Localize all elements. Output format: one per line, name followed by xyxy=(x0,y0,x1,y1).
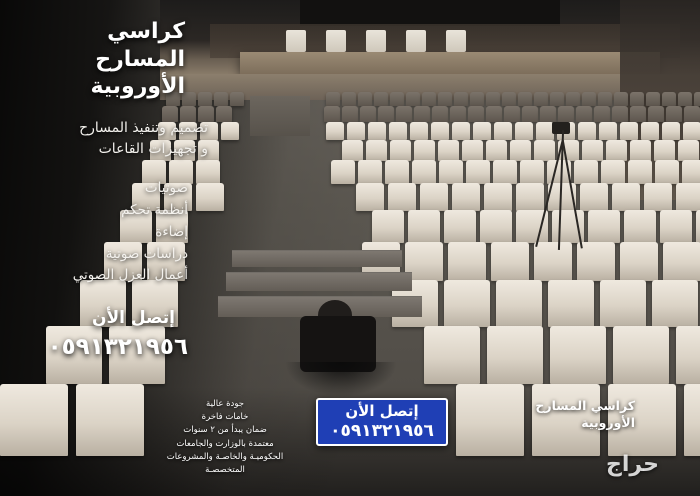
theater-seat xyxy=(491,242,529,281)
brand-line-2: الأوروبية xyxy=(455,415,635,432)
theater-seat xyxy=(439,160,463,184)
theater-seat xyxy=(496,280,542,327)
theater-seat xyxy=(614,92,628,106)
theater-seat xyxy=(444,210,476,243)
theater-seat xyxy=(372,210,404,243)
theater-seat xyxy=(550,92,564,106)
headline-line-1: كراسي المسارح xyxy=(13,18,185,73)
theater-seat xyxy=(548,280,594,327)
theater-seat xyxy=(432,106,448,122)
theater-seat xyxy=(684,106,700,122)
theater-seat xyxy=(326,92,340,106)
theater-seat xyxy=(198,92,212,106)
theater-seat xyxy=(414,140,435,161)
theater-seat xyxy=(598,92,612,106)
theater-seat xyxy=(601,160,625,184)
theater-seat xyxy=(540,106,556,122)
theater-seat xyxy=(612,106,628,122)
service-item: أعمال العزل الصوتي xyxy=(8,265,188,287)
theater-seat xyxy=(470,92,484,106)
theater-seat xyxy=(676,326,700,384)
service-item: أنظمة تحكم xyxy=(8,200,188,222)
brand-line-1: كراسي المسارح xyxy=(455,398,635,415)
theater-seat xyxy=(450,106,466,122)
service-item: إضاءة xyxy=(8,222,188,244)
theater-seat xyxy=(196,160,220,184)
stage-chair xyxy=(446,30,466,52)
theater-seat xyxy=(388,183,416,211)
theater-seat xyxy=(0,384,68,456)
theater-seat xyxy=(452,122,470,140)
theater-seat xyxy=(390,92,404,106)
stage-table xyxy=(240,52,660,74)
theater-seat xyxy=(534,242,572,281)
theater-seat xyxy=(696,210,700,243)
theater-seat xyxy=(368,122,386,140)
theater-seat xyxy=(221,122,239,140)
theater-seat xyxy=(594,106,610,122)
theater-seat xyxy=(694,92,700,106)
stage-chair xyxy=(366,30,386,52)
theater-seat xyxy=(630,140,651,161)
theater-seat xyxy=(414,106,430,122)
theater-seat xyxy=(613,326,669,384)
theater-seat xyxy=(420,183,448,211)
aisle-step xyxy=(226,272,412,291)
theater-seat xyxy=(558,106,574,122)
theater-seat xyxy=(486,140,507,161)
theater-seat xyxy=(396,106,412,122)
theater-seat xyxy=(518,92,532,106)
theater-seat xyxy=(652,280,698,327)
theater-seat xyxy=(444,280,490,327)
theater-seat xyxy=(534,140,555,161)
stage-chair xyxy=(406,30,426,52)
stage-screen xyxy=(300,0,560,26)
theater-seat xyxy=(342,140,363,161)
theater-seat xyxy=(516,183,544,211)
theater-seat xyxy=(214,92,228,106)
phone-number: ٠٥٩١٣٢١٩٥٦ xyxy=(23,334,188,360)
subheadline-line-2: و تجهيزات القاعات xyxy=(8,139,208,160)
theater-seat xyxy=(676,183,700,211)
theater-seat xyxy=(410,122,428,140)
aisle-step xyxy=(232,250,402,267)
theater-seat xyxy=(324,106,340,122)
theater-seat xyxy=(342,92,356,106)
theater-seat xyxy=(347,122,365,140)
theater-seat xyxy=(412,160,436,184)
theater-seat xyxy=(641,122,659,140)
fineprint-line: خامات فاخرة xyxy=(150,411,300,424)
theater-seat xyxy=(630,92,644,106)
theater-seat xyxy=(646,92,660,106)
theater-seat xyxy=(678,92,692,106)
watermark: حراج xyxy=(606,452,659,477)
theater-seat xyxy=(520,160,544,184)
theater-seat xyxy=(452,183,480,211)
theater-seat xyxy=(406,92,420,106)
theater-seat xyxy=(628,160,652,184)
theater-seat xyxy=(196,183,224,211)
theater-seat xyxy=(630,106,646,122)
theater-seat xyxy=(494,122,512,140)
service-item: دراسات صوتية xyxy=(8,244,188,266)
theater-seat xyxy=(484,183,512,211)
subheadline: تصميم وتنفيذ المسارح و تجهيزات القاعات xyxy=(8,118,208,160)
contact-badge-phone: ٠٥٩١٣٢١٩٥٦ xyxy=(324,421,440,441)
theater-seat xyxy=(662,92,676,106)
theater-seat xyxy=(515,122,533,140)
theater-seat xyxy=(599,122,617,140)
theater-seat xyxy=(648,106,664,122)
theater-seat xyxy=(326,122,344,140)
theater-seat xyxy=(566,92,580,106)
theater-seat xyxy=(578,122,596,140)
fineprint-line: معتمدة بالوزارت والجامعات xyxy=(150,438,300,451)
theater-seat xyxy=(522,106,538,122)
theater-seat xyxy=(663,242,700,281)
theater-seat xyxy=(576,106,592,122)
subheadline-line-1: تصميم وتنفيذ المسارح xyxy=(8,118,208,139)
theater-seat xyxy=(487,326,543,384)
fineprint-line: ضمان يبدأ من ٢ سنوات xyxy=(150,424,300,437)
theater-seat xyxy=(550,326,606,384)
stage-chair xyxy=(326,30,346,52)
theater-seat xyxy=(624,210,656,243)
theater-seat xyxy=(424,326,480,384)
theater-seat xyxy=(454,92,468,106)
contact-badge-title: إتصل الأن xyxy=(326,402,438,420)
theater-seat xyxy=(534,92,548,106)
center-aisle xyxy=(250,96,310,136)
theater-seat xyxy=(684,384,700,456)
theater-seat xyxy=(588,210,620,243)
theater-seat xyxy=(438,140,459,161)
theater-seat xyxy=(462,140,483,161)
theater-seat xyxy=(580,183,608,211)
theater-seat xyxy=(493,160,517,184)
theater-seat xyxy=(389,122,407,140)
theater-seat xyxy=(486,106,502,122)
theater-seat xyxy=(678,140,699,161)
services-list: صوتيات أنظمة تحكم إضاءة دراسات صوتية أعم… xyxy=(8,178,188,287)
fineprint-line: جودة عالية xyxy=(150,398,300,411)
call-to-action-title: إتصل الأن xyxy=(25,308,175,328)
theater-seat xyxy=(666,106,682,122)
theater-seat xyxy=(230,92,244,106)
theater-seat xyxy=(422,92,436,106)
theater-seat xyxy=(390,140,411,161)
brand-name: كراسي المسارح الأوروبية xyxy=(455,398,635,432)
theater-seat xyxy=(216,106,232,122)
contact-badge[interactable]: إتصل الأن ٠٥٩١٣٢١٩٥٦ xyxy=(316,398,448,446)
service-item: صوتيات xyxy=(8,178,188,200)
headline-line-2: الأوروبية xyxy=(13,73,185,101)
theater-seat xyxy=(356,183,384,211)
theater-seat xyxy=(612,183,640,211)
theater-seat xyxy=(480,210,512,243)
theater-seat xyxy=(76,384,144,456)
theater-seat xyxy=(468,106,484,122)
theater-seat xyxy=(510,140,531,161)
theater-seat xyxy=(366,140,387,161)
theater-seat xyxy=(620,122,638,140)
theater-seat xyxy=(606,140,627,161)
theater-seat xyxy=(358,92,372,106)
advertisement-image: كراسي المسارح الأوروبية تصميم وتنفيذ الم… xyxy=(0,0,700,496)
fineprint-line: الحكوميـة والخاصـة والمشروعات المتخصصـة xyxy=(150,451,300,477)
headline: كراسي المسارح الأوروبية xyxy=(13,18,185,101)
camera-stand-legs xyxy=(286,362,396,396)
theater-seat xyxy=(662,122,680,140)
theater-seat xyxy=(620,242,658,281)
fineprint-block: جودة عالية خامات فاخرة ضمان يبدأ من ٢ سن… xyxy=(150,398,300,477)
theater-seat xyxy=(438,92,452,106)
theater-seat xyxy=(486,92,500,106)
theater-seat xyxy=(466,160,490,184)
theater-seat xyxy=(378,106,394,122)
theater-seat xyxy=(473,122,491,140)
theater-seat xyxy=(582,140,603,161)
theater-seat xyxy=(360,106,376,122)
theater-seat xyxy=(682,160,700,184)
stage-chair xyxy=(286,30,306,52)
theater-seat xyxy=(654,140,675,161)
theater-seat xyxy=(660,210,692,243)
theater-seat xyxy=(358,160,382,184)
theater-seat xyxy=(600,280,646,327)
theater-seat xyxy=(408,210,440,243)
theater-seat xyxy=(374,92,388,106)
theater-seat xyxy=(385,160,409,184)
theater-seat xyxy=(683,122,700,140)
theater-seat xyxy=(655,160,679,184)
theater-seat xyxy=(448,242,486,281)
theater-seat xyxy=(504,106,520,122)
theater-seat xyxy=(331,160,355,184)
theater-seat xyxy=(582,92,596,106)
theater-seat xyxy=(644,183,672,211)
theater-seat xyxy=(342,106,358,122)
theater-seat xyxy=(431,122,449,140)
theater-seat xyxy=(502,92,516,106)
theater-seat xyxy=(574,160,598,184)
